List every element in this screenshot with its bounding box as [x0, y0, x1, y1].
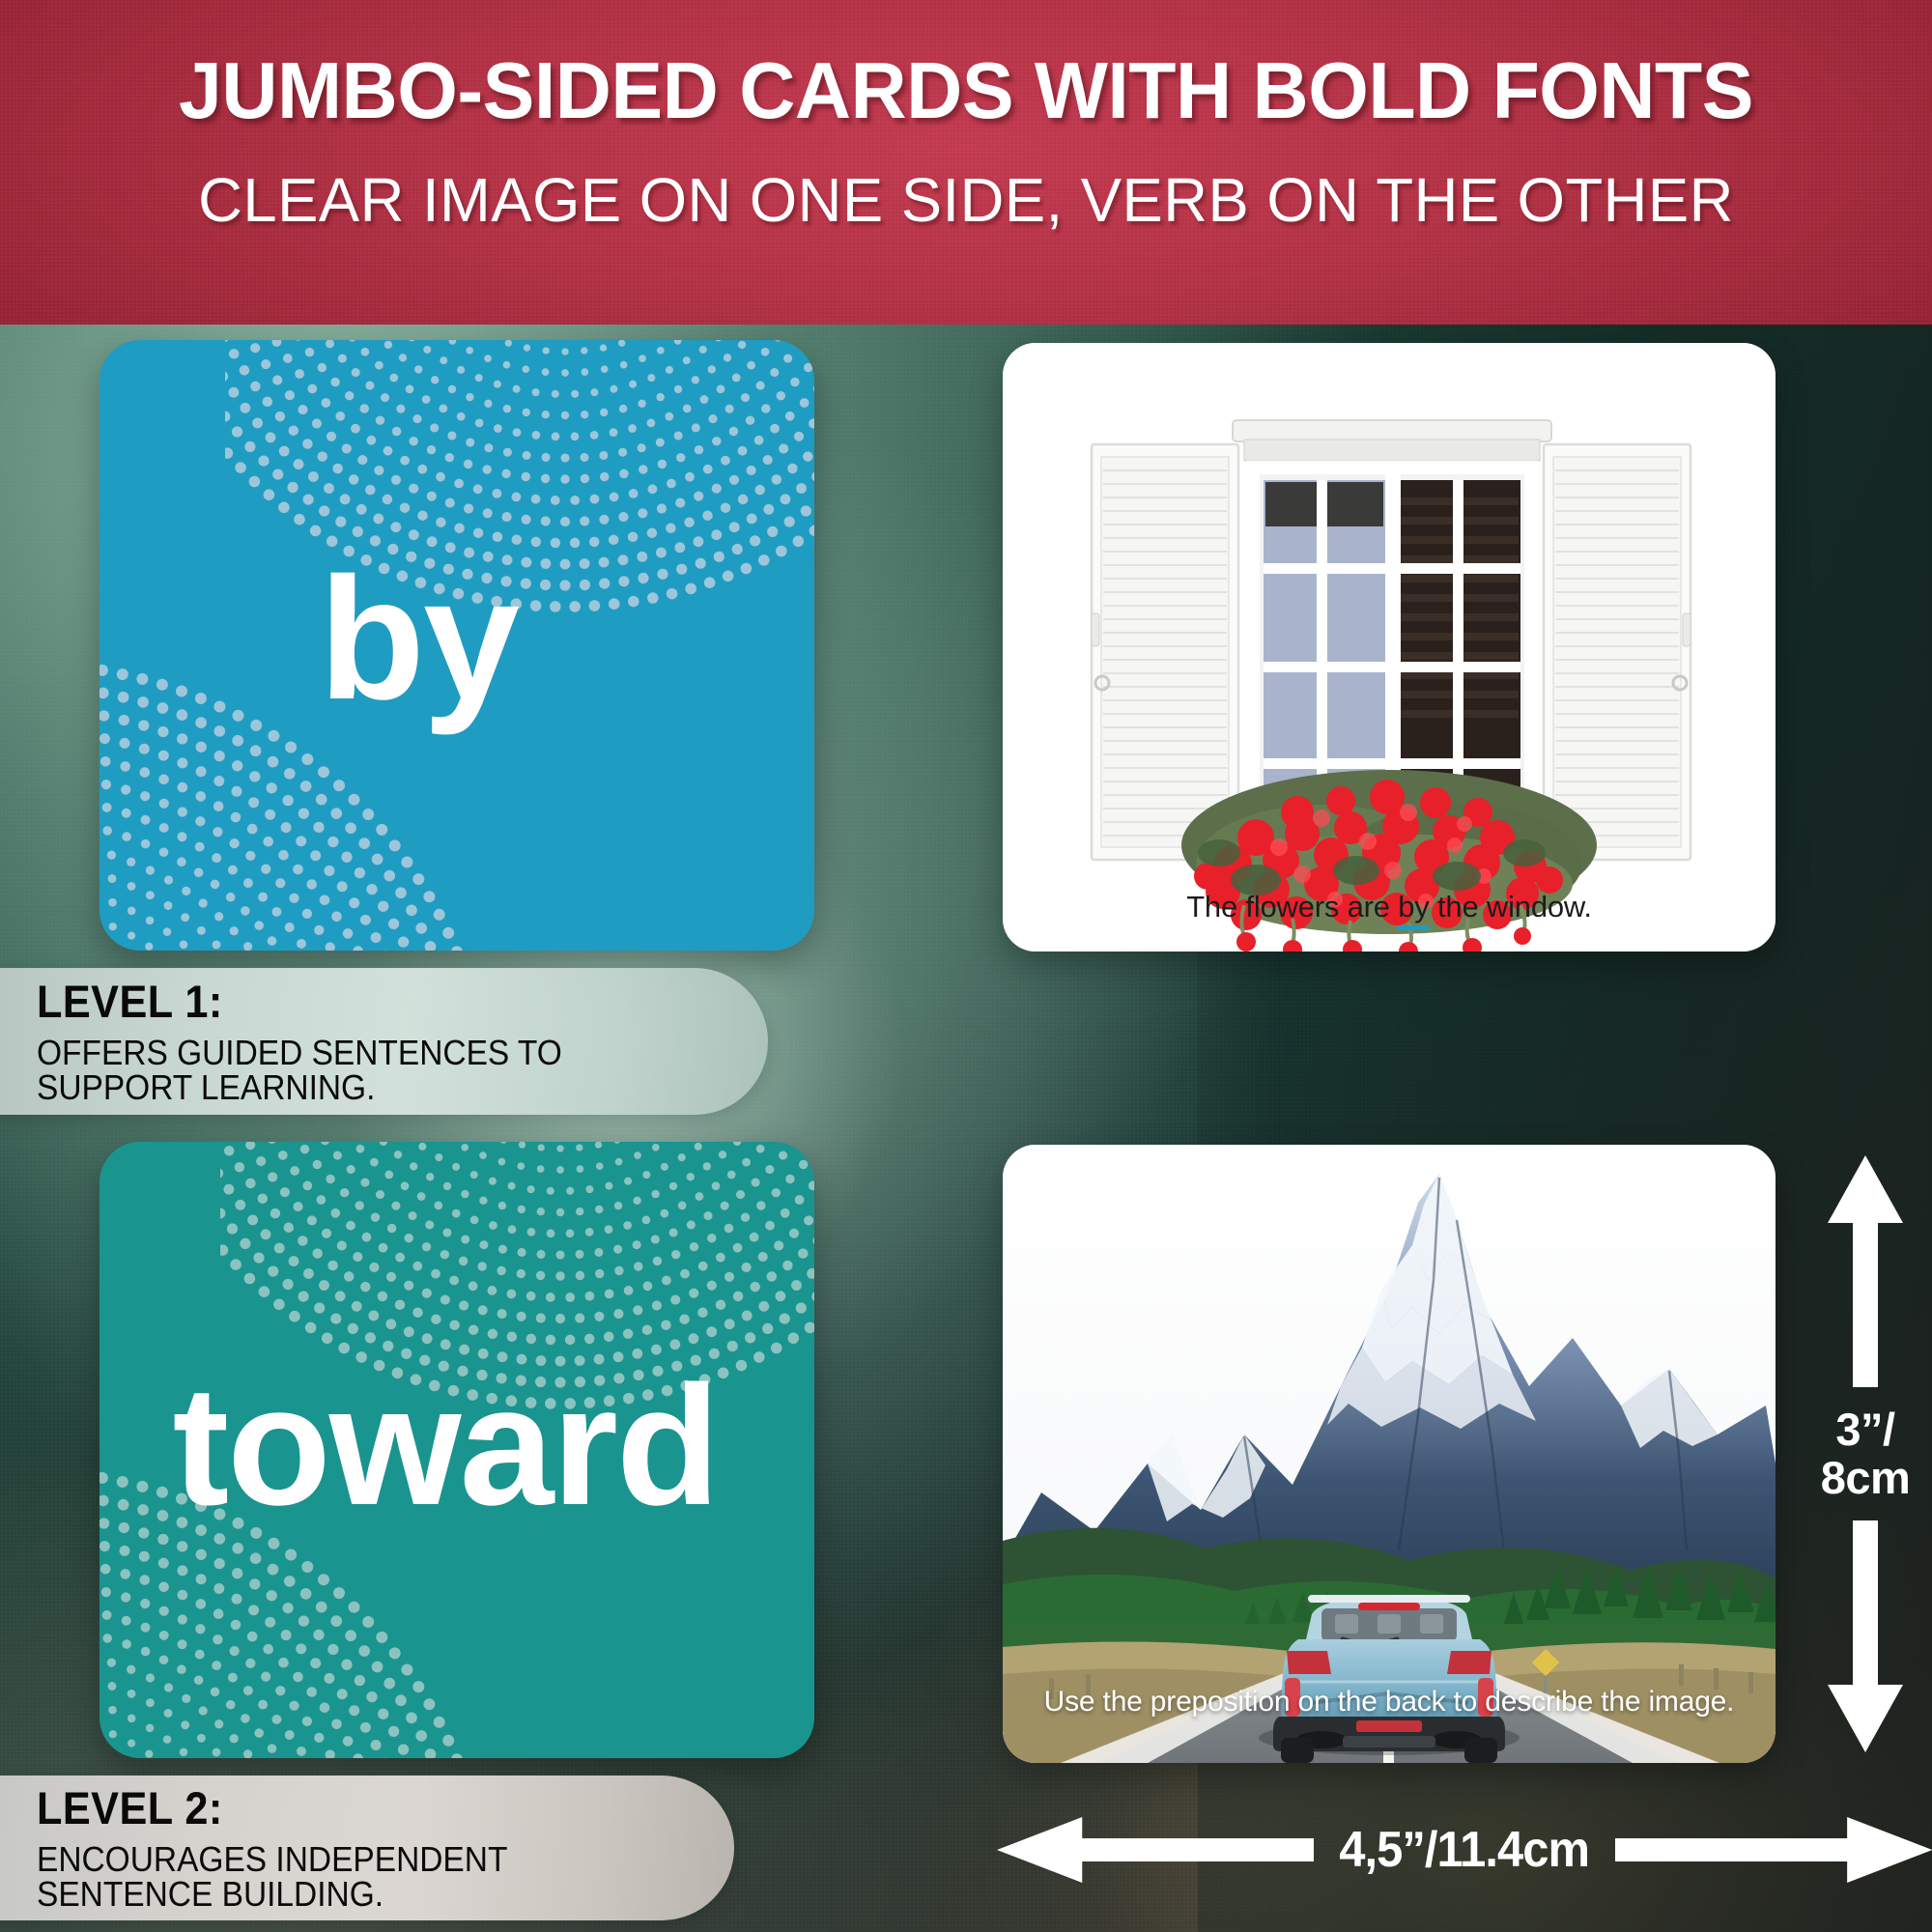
arrow-left-icon: [997, 1811, 1314, 1889]
word-card-toward[interactable]: toward: [99, 1142, 814, 1758]
arrow-right-icon: [1615, 1811, 1932, 1889]
card-width-label: 4,5”/11.4cm: [1323, 1825, 1606, 1875]
card-width-dimension: 4,5”/11.4cm: [997, 1797, 1932, 1903]
car-driving-toward-mountain-illustration: [1003, 1145, 1776, 1763]
level-1-title: LEVEL 1:: [37, 979, 709, 1024]
card-height-label: 3”/ 8cm: [1821, 1398, 1911, 1510]
photo-card-window[interactable]: The flowers are by the window.: [1003, 343, 1776, 952]
level-1-description: OFFERS GUIDED SENTENCES TO SUPPORT LEARN…: [37, 1036, 717, 1105]
road-card-caption: Use the preposition on the back to descr…: [1003, 1686, 1776, 1719]
arrow-up-icon: [1824, 1155, 1907, 1387]
level-2-title: LEVEL 2:: [37, 1785, 678, 1831]
word-card-label: by: [319, 553, 518, 726]
arrow-down-icon: [1824, 1520, 1907, 1752]
level-2-band: LEVEL 2: ENCOURAGES INDEPENDENT SENTENCE…: [0, 1776, 734, 1920]
caption-prefix: The flowers are: [1186, 890, 1398, 923]
caption-suffix: the window.: [1430, 890, 1592, 923]
window-card-caption: The flowers are by the window.: [1003, 890, 1776, 924]
card-height-dimension: 3”/ 8cm: [1799, 1145, 1932, 1763]
arrow-right: [1615, 1811, 1932, 1889]
word-card-label: toward: [173, 1361, 719, 1531]
level-2-description: ENCOURAGES INDEPENDENT SENTENCE BUILDING…: [37, 1842, 685, 1912]
infographic-canvas: JUMBO-SIDED CARDS WITH BOLD FONTS CLEAR …: [0, 0, 1932, 1932]
arrow-down: [1824, 1510, 1907, 1763]
window-with-flowers-illustration: [1003, 343, 1776, 952]
caption-highlight-word: by: [1398, 890, 1429, 930]
photo-card-road[interactable]: Use the preposition on the back to descr…: [1003, 1145, 1776, 1763]
level-1-band: LEVEL 1: OFFERS GUIDED SENTENCES TO SUPP…: [0, 968, 768, 1115]
header-banner: JUMBO-SIDED CARDS WITH BOLD FONTS CLEAR …: [0, 0, 1932, 325]
header-subtitle: CLEAR IMAGE ON ONE SIDE, VERB ON THE OTH…: [10, 169, 1922, 231]
arrow-left: [997, 1811, 1314, 1889]
arrow-up: [1824, 1145, 1907, 1398]
header-title: JUMBO-SIDED CARDS WITH BOLD FONTS: [29, 50, 1903, 130]
word-card-by[interactable]: by: [99, 340, 814, 951]
dot-arc-pattern-top: [225, 340, 814, 697]
